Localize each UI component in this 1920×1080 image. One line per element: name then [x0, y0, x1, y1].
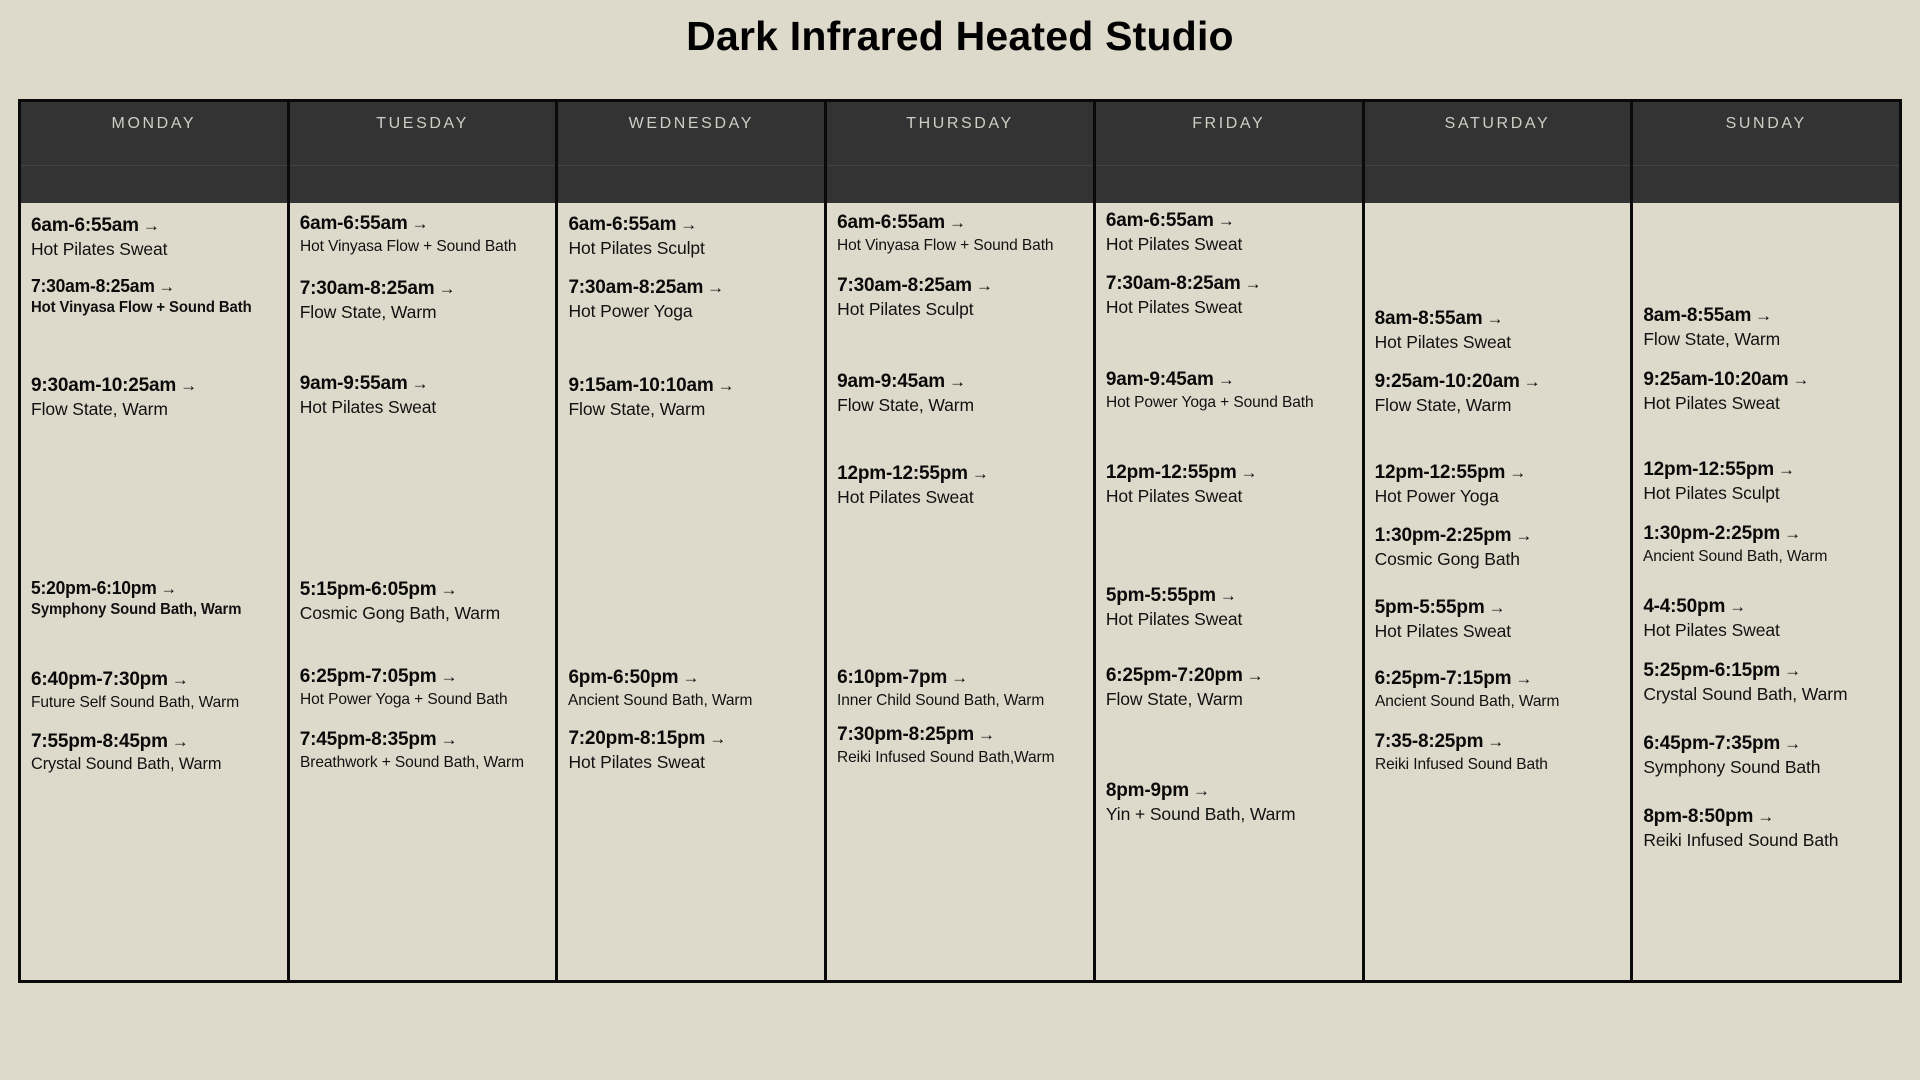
arrow-right-icon: → [168, 732, 189, 751]
day-header-tuesday: TUESDAY [290, 102, 556, 203]
arrow-right-icon: → [974, 725, 995, 744]
class-entry[interactable]: 6:25pm-7:05pm→Hot Power Yoga + Sound Bat… [300, 666, 554, 709]
class-time: 6:40pm-7:30pm→ [31, 669, 285, 690]
class-name: Future Self Sound Bath, Warm [31, 690, 277, 712]
class-entry[interactable]: 1:30pm-2:25pm→Ancient Sound Bath, Warm [1643, 523, 1897, 566]
class-entry[interactable]: 7:30am-8:25am→Hot Pilates Sculpt [837, 275, 1091, 320]
class-time-text: 9:30am-10:25am [31, 375, 176, 396]
class-entry[interactable]: 6am-6:55am→Hot Pilates Sweat [1106, 210, 1360, 255]
class-time-text: 6am-6:55am [300, 213, 408, 234]
arrow-right-icon: → [408, 374, 429, 393]
class-time: 8am-8:55am→ [1643, 305, 1897, 326]
class-time: 6:25pm-7:15pm→ [1375, 668, 1629, 689]
class-time-text: 12pm-12:55pm [1375, 462, 1506, 483]
arrow-right-icon: → [945, 213, 966, 232]
class-name: Crystal Sound Bath, Warm [1643, 681, 1897, 705]
day-header-divider [1633, 165, 1899, 166]
class-time: 7:30pm-8:25pm→ [837, 724, 1091, 745]
arrow-right-icon: → [1241, 274, 1262, 293]
class-entry[interactable]: 9am-9:45am→Flow State, Warm [837, 371, 1091, 416]
class-entry[interactable]: 7:30am-8:25am→Hot Vinyasa Flow + Sound B… [31, 276, 285, 318]
class-name: Hot Pilates Sweat [837, 484, 1091, 508]
class-entry[interactable]: 8am-8:55am→Hot Pilates Sweat [1375, 308, 1629, 353]
arrow-right-icon: → [1485, 598, 1506, 617]
arrow-right-icon: → [437, 667, 458, 686]
class-name: Reiki Infused Sound Bath [1375, 752, 1621, 774]
class-time: 7:55pm-8:45pm→ [31, 731, 285, 752]
arrow-right-icon: → [1788, 370, 1809, 389]
class-time-text: 9am-9:45am [837, 371, 945, 392]
class-name: Hot Pilates Sweat [1106, 294, 1360, 318]
arrow-right-icon: → [176, 376, 197, 395]
arrow-right-icon: → [703, 278, 724, 297]
class-name: Yin + Sound Bath, Warm [1106, 801, 1360, 825]
class-name: Hot Pilates Sweat [1643, 390, 1897, 414]
class-time: 5pm-5:55pm→ [1106, 585, 1360, 606]
class-entry[interactable]: 6:25pm-7:20pm→Flow State, Warm [1106, 665, 1360, 710]
class-entry[interactable]: 7:35-8:25pm→Reiki Infused Sound Bath [1375, 731, 1629, 774]
class-time: 7:30am-8:25am→ [31, 276, 277, 296]
class-time-text: 9:25am-10:20am [1375, 371, 1520, 392]
class-name: Flow State, Warm [31, 396, 285, 420]
arrow-right-icon: → [1511, 526, 1532, 545]
day-column-monday: MONDAY6am-6:55am→Hot Pilates Sweat7:30am… [21, 102, 290, 980]
day-header-label: SUNDAY [1633, 115, 1899, 133]
class-time: 5:20pm-6:10pm→ [31, 578, 277, 598]
class-time: 5:25pm-6:15pm→ [1643, 660, 1897, 681]
class-time: 1:30pm-2:25pm→ [1375, 525, 1629, 546]
class-time-text: 6:25pm-7:20pm [1106, 665, 1243, 686]
class-time: 9:25am-10:20am→ [1375, 371, 1629, 392]
class-entry[interactable]: 8pm-9pm→Yin + Sound Bath, Warm [1106, 780, 1360, 825]
class-name: Hot Pilates Sweat [1643, 617, 1897, 641]
class-name: Reiki Infused Sound Bath,Warm [837, 745, 1083, 767]
class-time-text: 9am-9:55am [300, 373, 408, 394]
class-entry[interactable]: 5:15pm-6:05pm→Cosmic Gong Bath, Warm [300, 579, 554, 624]
class-entry[interactable]: 4-4:50pm→Hot Pilates Sweat [1643, 596, 1897, 641]
class-time: 9:15am-10:10am→ [568, 375, 822, 396]
class-name: Hot Power Yoga + Sound Bath [1106, 390, 1352, 412]
class-name: Hot Pilates Sculpt [1643, 480, 1897, 504]
class-entry[interactable]: 8am-8:55am→Flow State, Warm [1643, 305, 1897, 350]
arrow-right-icon: → [157, 579, 177, 598]
class-time-text: 7:20pm-8:15pm [568, 728, 705, 749]
day-header-label: SATURDAY [1365, 115, 1631, 133]
class-time: 9:25am-10:20am→ [1643, 369, 1897, 390]
class-entry[interactable]: 12pm-12:55pm→Hot Power Yoga [1375, 462, 1629, 507]
class-time-text: 1:30pm-2:25pm [1375, 525, 1512, 546]
class-name: Hot Pilates Sweat [1106, 606, 1360, 630]
class-time: 12pm-12:55pm→ [1106, 462, 1360, 483]
class-entry[interactable]: 6am-6:55am→Hot Pilates Sculpt [568, 214, 822, 259]
class-time: 12pm-12:55pm→ [1643, 459, 1897, 480]
class-time-text: 6:10pm-7pm [837, 667, 947, 688]
class-name: Symphony Sound Bath, Warm [31, 598, 275, 620]
class-time: 7:35-8:25pm→ [1375, 731, 1629, 752]
class-name: Hot Pilates Sweat [568, 749, 822, 773]
class-name: Hot Vinyasa Flow + Sound Bath [837, 233, 1083, 255]
class-entry[interactable]: 5pm-5:55pm→Hot Pilates Sweat [1375, 597, 1629, 642]
day-header-monday: MONDAY [21, 102, 287, 203]
class-name: Flow State, Warm [837, 392, 1091, 416]
day-header-divider [1365, 165, 1631, 166]
class-entry[interactable]: 1:30pm-2:25pm→Cosmic Gong Bath [1375, 525, 1629, 570]
class-time: 4-4:50pm→ [1643, 596, 1897, 617]
arrow-right-icon: → [408, 214, 429, 233]
class-name: Ancient Sound Bath, Warm [1643, 544, 1889, 566]
arrow-right-icon: → [1214, 370, 1235, 389]
class-entry[interactable]: 6:25pm-7:15pm→Ancient Sound Bath, Warm [1375, 668, 1629, 711]
class-time: 9am-9:55am→ [300, 373, 554, 394]
day-body-wednesday: 6am-6:55am→Hot Pilates Sculpt7:30am-8:25… [558, 203, 824, 980]
class-name: Cosmic Gong Bath, Warm [300, 600, 554, 624]
class-time-text: 7:55pm-8:45pm [31, 731, 168, 752]
class-time-text: 6:45pm-7:35pm [1643, 733, 1780, 754]
arrow-right-icon: → [1780, 524, 1801, 543]
arrow-right-icon: → [676, 215, 697, 234]
class-time-text: 8pm-9pm [1106, 780, 1189, 801]
class-name: Hot Power Yoga [1375, 483, 1629, 507]
arrow-right-icon: → [714, 376, 735, 395]
class-time-text: 7:30am-8:25am [31, 276, 155, 296]
class-entry[interactable]: 6:40pm-7:30pm→Future Self Sound Bath, Wa… [31, 669, 285, 712]
class-entry[interactable]: 7:30am-8:25am→Hot Pilates Sweat [1106, 273, 1360, 318]
arrow-right-icon: → [1780, 734, 1801, 753]
class-time-text: 1:30pm-2:25pm [1643, 523, 1780, 544]
class-time-text: 5pm-5:55pm [1375, 597, 1485, 618]
day-body-saturday: 8am-8:55am→Hot Pilates Sweat9:25am-10:20… [1365, 203, 1631, 980]
day-header-divider [558, 165, 824, 166]
class-time-text: 7:35-8:25pm [1375, 731, 1484, 752]
page-title: Dark Infrared Heated Studio [0, 0, 1920, 61]
class-time: 7:30am-8:25am→ [1106, 273, 1360, 294]
class-time: 6am-6:55am→ [837, 212, 1091, 233]
class-name: Reiki Infused Sound Bath [1643, 827, 1897, 851]
arrow-right-icon: → [1505, 463, 1526, 482]
class-entry[interactable]: 9:25am-10:20am→Flow State, Warm [1375, 371, 1629, 416]
arrow-right-icon: → [678, 668, 699, 687]
class-time-text: 5pm-5:55pm [1106, 585, 1216, 606]
class-time: 7:30am-8:25am→ [300, 278, 554, 299]
arrow-right-icon: → [1483, 732, 1504, 751]
class-time: 9am-9:45am→ [837, 371, 1091, 392]
arrow-right-icon: → [168, 670, 189, 689]
class-time-text: 6:25pm-7:05pm [300, 666, 437, 687]
class-entry[interactable]: 5:20pm-6:10pm→Symphony Sound Bath, Warm [31, 578, 285, 620]
class-entry[interactable]: 6am-6:55am→Hot Vinyasa Flow + Sound Bath [300, 213, 554, 256]
class-name: Cosmic Gong Bath [1375, 546, 1629, 570]
arrow-right-icon: → [705, 729, 726, 748]
arrow-right-icon: → [1753, 807, 1774, 826]
class-time-text: 5:25pm-6:15pm [1643, 660, 1780, 681]
class-name: Hot Pilates Sculpt [837, 296, 1091, 320]
day-header-divider [1096, 165, 1362, 166]
day-body-monday: 6am-6:55am→Hot Pilates Sweat7:30am-8:25a… [21, 203, 287, 980]
arrow-right-icon: → [1189, 781, 1210, 800]
day-column-thursday: THURSDAY6am-6:55am→Hot Vinyasa Flow + So… [827, 102, 1096, 980]
class-name: Hot Power Yoga + Sound Bath [300, 687, 546, 709]
arrow-right-icon: → [139, 216, 160, 235]
day-column-saturday: SATURDAY8am-8:55am→Hot Pilates Sweat9:25… [1365, 102, 1634, 980]
class-time: 8pm-8:50pm→ [1643, 806, 1897, 827]
day-header-divider [21, 165, 287, 166]
day-header-sunday: SUNDAY [1633, 102, 1899, 203]
class-time-text: 6am-6:55am [31, 215, 139, 236]
day-header-label: TUESDAY [290, 115, 556, 133]
class-name: Hot Pilates Sweat [1106, 483, 1360, 507]
day-column-friday: FRIDAY6am-6:55am→Hot Pilates Sweat7:30am… [1096, 102, 1365, 980]
class-time-text: 8am-8:55am [1375, 308, 1483, 329]
class-entry[interactable]: 7:45pm-8:35pm→Breathwork + Sound Bath, W… [300, 729, 554, 772]
class-name: Flow State, Warm [1375, 392, 1629, 416]
class-time: 8am-8:55am→ [1375, 308, 1629, 329]
class-entry[interactable]: 9am-9:55am→Hot Pilates Sweat [300, 373, 554, 418]
class-name: Breathwork + Sound Bath, Warm [300, 750, 546, 772]
day-body-tuesday: 6am-6:55am→Hot Vinyasa Flow + Sound Bath… [290, 203, 556, 980]
class-time-text: 9:15am-10:10am [568, 375, 713, 396]
class-time-text: 9am-9:45am [1106, 369, 1214, 390]
arrow-right-icon: → [1482, 309, 1503, 328]
class-name: Hot Vinyasa Flow + Sound Bath [31, 296, 275, 318]
class-time-text: 6pm-6:50pm [568, 667, 678, 688]
arrow-right-icon: → [437, 730, 458, 749]
schedule-page: Dark Infrared Heated Studio MONDAY6am-6:… [0, 0, 1920, 1080]
class-time: 6:10pm-7pm→ [837, 667, 1091, 688]
class-time: 6am-6:55am→ [300, 213, 554, 234]
class-entry[interactable]: 7:55pm-8:45pm→Crystal Sound Bath, Warm [31, 731, 285, 775]
class-time-text: 4-4:50pm [1643, 596, 1725, 617]
class-time: 7:45pm-8:35pm→ [300, 729, 554, 750]
class-name: Flow State, Warm [1106, 686, 1360, 710]
day-columns-row: MONDAY6am-6:55am→Hot Pilates Sweat7:30am… [21, 102, 1899, 980]
arrow-right-icon: → [947, 668, 968, 687]
day-body-thursday: 6am-6:55am→Hot Vinyasa Flow + Sound Bath… [827, 203, 1093, 980]
class-entry[interactable]: 7:30pm-8:25pm→Reiki Infused Sound Bath,W… [837, 724, 1091, 767]
day-column-wednesday: WEDNESDAY6am-6:55am→Hot Pilates Sculpt7:… [558, 102, 827, 980]
day-header-label: THURSDAY [827, 115, 1093, 133]
class-name: Hot Pilates Sweat [1375, 329, 1629, 353]
class-entry[interactable]: 6am-6:55am→Hot Pilates Sweat [31, 215, 285, 260]
class-time: 5:15pm-6:05pm→ [300, 579, 554, 600]
arrow-right-icon: → [1774, 460, 1795, 479]
class-entry[interactable]: 7:30am-8:25am→Flow State, Warm [300, 278, 554, 323]
class-entry[interactable]: 5pm-5:55pm→Hot Pilates Sweat [1106, 585, 1360, 630]
day-header-divider [827, 165, 1093, 166]
class-time-text: 6am-6:55am [568, 214, 676, 235]
arrow-right-icon: → [1237, 463, 1258, 482]
class-time-text: 7:30am-8:25am [568, 277, 703, 298]
class-name: Crystal Sound Bath, Warm [31, 752, 282, 775]
class-entry[interactable]: 9:15am-10:10am→Flow State, Warm [568, 375, 822, 420]
class-name: Flow State, Warm [568, 396, 822, 420]
day-column-tuesday: TUESDAY6am-6:55am→Hot Vinyasa Flow + Sou… [290, 102, 559, 980]
day-column-sunday: SUNDAY8am-8:55am→Flow State, Warm9:25am-… [1633, 102, 1899, 980]
class-entry[interactable]: 7:20pm-8:15pm→Hot Pilates Sweat [568, 728, 822, 773]
arrow-right-icon: → [1243, 666, 1264, 685]
arrow-right-icon: → [1751, 306, 1772, 325]
arrow-right-icon: → [1780, 661, 1801, 680]
arrow-right-icon: → [1214, 211, 1235, 230]
class-entry[interactable]: 6:45pm-7:35pm→Symphony Sound Bath [1643, 733, 1897, 778]
class-time: 12pm-12:55pm→ [837, 463, 1091, 484]
class-entry[interactable]: 12pm-12:55pm→Hot Pilates Sweat [1106, 462, 1360, 507]
class-time: 6am-6:55am→ [568, 214, 822, 235]
arrow-right-icon: → [1520, 372, 1541, 391]
class-entry[interactable]: 6pm-6:50pm→Ancient Sound Bath, Warm [568, 667, 822, 710]
class-entry[interactable]: 12pm-12:55pm→Hot Pilates Sweat [837, 463, 1091, 508]
day-header-friday: FRIDAY [1096, 102, 1362, 203]
day-header-saturday: SATURDAY [1365, 102, 1631, 203]
class-time-text: 7:30am-8:25am [837, 275, 972, 296]
class-time-text: 8pm-8:50pm [1643, 806, 1753, 827]
class-name: Hot Pilates Sweat [31, 236, 285, 260]
class-time-text: 8am-8:55am [1643, 305, 1751, 326]
class-time: 6am-6:55am→ [1106, 210, 1360, 231]
class-time: 1:30pm-2:25pm→ [1643, 523, 1897, 544]
class-name: Hot Pilates Sweat [300, 394, 554, 418]
class-time-text: 9:25am-10:20am [1643, 369, 1788, 390]
class-time: 12pm-12:55pm→ [1375, 462, 1629, 483]
class-name: Flow State, Warm [300, 299, 554, 323]
class-time-text: 6:25pm-7:15pm [1375, 668, 1512, 689]
class-time: 6:45pm-7:35pm→ [1643, 733, 1897, 754]
class-entry[interactable]: 9:30am-10:25am→Flow State, Warm [31, 375, 285, 420]
day-header-label: MONDAY [21, 115, 287, 133]
class-time-text: 12pm-12:55pm [1106, 462, 1237, 483]
class-time: 7:30am-8:25am→ [837, 275, 1091, 296]
class-time-text: 12pm-12:55pm [837, 463, 968, 484]
day-header-divider [290, 165, 556, 166]
class-entry[interactable]: 8pm-8:50pm→Reiki Infused Sound Bath [1643, 806, 1897, 851]
class-time: 6:25pm-7:05pm→ [300, 666, 554, 687]
class-time-text: 7:30pm-8:25pm [837, 724, 974, 745]
day-header-thursday: THURSDAY [827, 102, 1093, 203]
class-time-text: 6:40pm-7:30pm [31, 669, 168, 690]
class-name: Flow State, Warm [1643, 326, 1897, 350]
class-time-text: 12pm-12:55pm [1643, 459, 1774, 480]
class-entry[interactable]: 9:25am-10:20am→Hot Pilates Sweat [1643, 369, 1897, 414]
class-name: Hot Power Yoga [568, 298, 822, 322]
class-entry[interactable]: 6:10pm-7pm→Inner Child Sound Bath, Warm [837, 667, 1091, 710]
arrow-right-icon: → [437, 580, 458, 599]
weekly-schedule-grid: MONDAY6am-6:55am→Hot Pilates Sweat7:30am… [18, 99, 1902, 983]
day-header-wednesday: WEDNESDAY [558, 102, 824, 203]
class-time-text: 5:15pm-6:05pm [300, 579, 437, 600]
class-time: 7:20pm-8:15pm→ [568, 728, 822, 749]
class-name: Hot Pilates Sweat [1375, 618, 1629, 642]
arrow-right-icon: → [945, 372, 966, 391]
arrow-right-icon: → [968, 464, 989, 483]
arrow-right-icon: → [972, 276, 993, 295]
day-header-label: WEDNESDAY [558, 115, 824, 133]
arrow-right-icon: → [1511, 669, 1532, 688]
class-entry[interactable]: 12pm-12:55pm→Hot Pilates Sculpt [1643, 459, 1897, 504]
class-time-text: 6am-6:55am [1106, 210, 1214, 231]
class-time: 8pm-9pm→ [1106, 780, 1360, 801]
class-name: Ancient Sound Bath, Warm [1375, 689, 1621, 711]
class-time-text: 7:30am-8:25am [1106, 273, 1241, 294]
class-name: Symphony Sound Bath [1643, 754, 1897, 778]
class-entry[interactable]: 7:30am-8:25am→Hot Power Yoga [568, 277, 822, 322]
class-entry[interactable]: 5:25pm-6:15pm→Crystal Sound Bath, Warm [1643, 660, 1897, 705]
class-time-text: 5:20pm-6:10pm [31, 578, 157, 598]
day-header-label: FRIDAY [1096, 115, 1362, 133]
arrow-right-icon: → [1725, 597, 1746, 616]
class-time: 6am-6:55am→ [31, 215, 285, 236]
class-name: Hot Vinyasa Flow + Sound Bath [300, 234, 546, 256]
class-time-text: 6am-6:55am [837, 212, 945, 233]
arrow-right-icon: → [1216, 586, 1237, 605]
class-time: 6pm-6:50pm→ [568, 667, 822, 688]
day-body-sunday: 8am-8:55am→Flow State, Warm9:25am-10:20a… [1633, 203, 1899, 980]
class-name: Hot Pilates Sweat [1106, 231, 1360, 255]
class-time: 6:25pm-7:20pm→ [1106, 665, 1360, 686]
arrow-right-icon: → [155, 277, 175, 296]
class-time: 9am-9:45am→ [1106, 369, 1360, 390]
class-entry[interactable]: 6am-6:55am→Hot Vinyasa Flow + Sound Bath [837, 212, 1091, 255]
class-time: 5pm-5:55pm→ [1375, 597, 1629, 618]
class-name: Inner Child Sound Bath, Warm [837, 688, 1083, 710]
day-body-friday: 6am-6:55am→Hot Pilates Sweat7:30am-8:25a… [1096, 203, 1362, 980]
class-time-text: 7:30am-8:25am [300, 278, 435, 299]
arrow-right-icon: → [434, 279, 455, 298]
class-name: Ancient Sound Bath, Warm [568, 688, 814, 710]
class-entry[interactable]: 9am-9:45am→Hot Power Yoga + Sound Bath [1106, 369, 1360, 412]
class-time: 7:30am-8:25am→ [568, 277, 822, 298]
class-time-text: 7:45pm-8:35pm [300, 729, 437, 750]
class-name: Hot Pilates Sculpt [568, 235, 822, 259]
class-time: 9:30am-10:25am→ [31, 375, 285, 396]
